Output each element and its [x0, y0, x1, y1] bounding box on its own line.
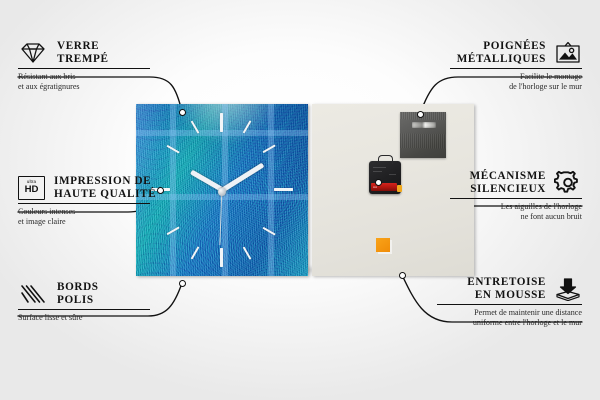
feature-sub-line1: Facilite le montage	[450, 72, 582, 82]
feature-title-line2: MÉTALLIQUES	[457, 53, 546, 66]
feature-sub-line1: Les aiguilles de l'horloge	[450, 202, 582, 212]
feature-title-line2: HAUTE QUALITÉ	[54, 188, 156, 201]
feature-impression: ultra HD IMPRESSION DE HAUTE QUALITÉ Cou…	[18, 175, 150, 226]
feature-sub-line2: uniforme entre l'horloge et le mur	[437, 318, 582, 328]
foam-spacer-arrow-icon	[554, 277, 582, 301]
infographic-canvas: AA VERRE TREMPÉ	[0, 0, 600, 400]
feature-sub-line2: ne font aucun bruit	[450, 212, 582, 222]
feature-sub-line1: Surface lisse et sûre	[18, 313, 150, 323]
feature-mecanisme: MÉCANISME SILENCIEUX Les aiguilles de l'…	[450, 170, 582, 221]
feature-sub-line1: Permet de maintenir une distance	[437, 308, 582, 318]
polished-edges-icon	[18, 282, 48, 306]
battery-plus-terminal	[397, 185, 402, 192]
connector-dot-verre-trempe	[179, 109, 186, 116]
feature-sub-line2: et image claire	[18, 217, 150, 227]
feature-title-line1: ENTRETOISE	[467, 276, 546, 289]
feature-rule	[437, 304, 582, 305]
feature-sub-line2: de l'horloge sur le mur	[450, 82, 582, 92]
connector-dot-entretoise	[399, 272, 406, 279]
product-image-group: AA	[136, 104, 474, 276]
connector-dot-mecanisme	[375, 179, 382, 186]
gear-icon	[554, 170, 582, 195]
feature-title-line2: EN MOUSSE	[467, 289, 546, 302]
feature-title-line1: IMPRESSION DE	[54, 175, 156, 188]
feature-title-line1: BORDS	[57, 281, 99, 294]
diamond-icon	[18, 41, 48, 65]
picture-frame-hanger-icon	[554, 41, 582, 65]
handle-slot	[412, 122, 436, 128]
feature-title-line1: POIGNÉES	[457, 40, 546, 53]
mechanism-hook	[378, 155, 393, 164]
feature-rule	[18, 68, 150, 69]
feature-sub-line2: et aux égratignures	[18, 82, 150, 92]
feature-rule	[450, 198, 582, 199]
feature-title-line2: POLIS	[57, 294, 99, 307]
feature-rule	[450, 68, 582, 69]
quartz-mechanism-box: AA	[369, 161, 401, 194]
feature-rule	[18, 203, 150, 204]
orange-foam-spacer	[376, 238, 390, 252]
feature-rule	[18, 309, 150, 310]
connector-dot-impression	[157, 187, 164, 194]
connector-dot-poignees	[417, 111, 424, 118]
ultra-hd-icon: ultra HD	[18, 176, 45, 200]
feature-title-line1: MÉCANISME	[470, 170, 546, 183]
metal-handle-plate	[400, 112, 446, 158]
feature-title-line1: VERRE	[57, 40, 109, 53]
feature-title-line2: SILENCIEUX	[470, 183, 546, 196]
feature-verre-trempe: VERRE TREMPÉ Résistant aux bris et aux é…	[18, 40, 150, 91]
feature-title-line2: TREMPÉ	[57, 53, 109, 66]
connector-dot-bords-polis	[179, 280, 186, 287]
feature-entretoise: ENTRETOISE EN MOUSSE Permet de maintenir…	[437, 276, 582, 327]
feature-sub-line1: Couleurs intenses	[18, 207, 150, 217]
ultra-hd-main-label: HD	[25, 185, 39, 195]
feature-poignees: POIGNÉES MÉTALLIQUES Facilite le montage…	[450, 40, 582, 91]
feature-bords-polis: BORDS POLIS Surface lisse et sûre	[18, 281, 150, 323]
feature-sub-line1: Résistant aux bris	[18, 72, 150, 82]
